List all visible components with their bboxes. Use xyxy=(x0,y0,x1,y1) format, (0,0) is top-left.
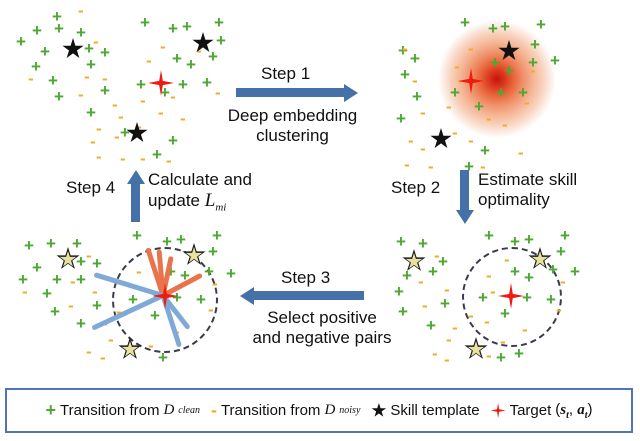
dash-icon: - xyxy=(108,331,114,348)
clustered-transitions-panel: + + + + + + + + + + + + + + + + + + + + … xyxy=(390,0,640,185)
loss-symbol: L xyxy=(205,190,216,211)
dash-icon: - xyxy=(444,351,450,368)
plus-icon: + xyxy=(202,74,212,91)
plus-icon: + xyxy=(510,233,520,250)
dash-icon: - xyxy=(166,152,172,169)
dash-icon: - xyxy=(502,116,508,133)
dash-icon: - xyxy=(504,251,510,268)
plus-icon: + xyxy=(524,231,534,248)
legend-target-tuple: (st, at) xyxy=(555,401,592,421)
plus-icon: + xyxy=(396,110,406,127)
legend-item-noisy-transition: - Transition from Dnoisy xyxy=(211,400,360,421)
plus-icon: + xyxy=(76,315,86,332)
dash-icon: - xyxy=(560,273,566,290)
plus-icon: + xyxy=(460,14,470,31)
step1-label: Step 1 xyxy=(261,64,310,84)
step1-arrow-icon xyxy=(236,88,344,97)
plus-icon: + xyxy=(514,345,524,362)
legend-noisy-text: Transition from xyxy=(221,402,320,419)
dash-icon: - xyxy=(86,343,92,360)
step4-description: Calculate and update Lmi xyxy=(148,170,252,214)
star-icon xyxy=(371,403,386,418)
dash-icon: - xyxy=(68,297,74,314)
plus-icon: + xyxy=(556,243,566,260)
step3-desc-line1: Select positive xyxy=(267,308,377,327)
skill-optimality-panel: + + + + + + + + + + + + + + + + + + + + … xyxy=(390,225,640,385)
legend-item-skill-template: Skill template xyxy=(371,402,479,419)
optimal-skill-template-star-icon xyxy=(464,337,488,361)
legend-clean-symbol: D xyxy=(163,402,174,419)
dash-icon: - xyxy=(428,158,434,175)
dash-icon: - xyxy=(170,88,176,105)
plus-icon: + xyxy=(530,36,540,53)
dash-icon: - xyxy=(420,140,426,157)
legend: + Transition from Dclean - Transition fr… xyxy=(5,388,633,433)
dash-icon: - xyxy=(452,319,458,336)
dash-icon: - xyxy=(102,70,108,87)
dash-icon: - xyxy=(518,144,524,161)
plus-icon: + xyxy=(140,14,150,31)
step2-desc-line1: Estimate skill xyxy=(478,170,577,189)
plus-icon: + xyxy=(484,227,494,244)
step1-desc-line1: Deep embedding xyxy=(228,106,357,125)
legend-noisy-symbol: D xyxy=(324,402,335,419)
step1-desc-line2: clustering xyxy=(256,126,329,145)
plus-icon: + xyxy=(496,84,506,101)
plus-icon: + xyxy=(72,235,82,252)
plus-icon: + xyxy=(478,289,488,306)
dash-icon: - xyxy=(446,331,452,348)
step2-description: Estimate skill optimality xyxy=(478,170,577,209)
plus-icon: + xyxy=(500,305,510,322)
dash-icon: - xyxy=(522,321,528,338)
dash-icon: - xyxy=(114,128,120,145)
dash-icon: - xyxy=(211,400,217,421)
plus-icon: + xyxy=(46,235,56,252)
step3-label: Step 3 xyxy=(281,268,330,288)
plus-icon: + xyxy=(120,124,130,141)
dash-icon: - xyxy=(490,283,496,300)
dash-icon: - xyxy=(140,92,146,109)
step4-desc-line2-pre: update xyxy=(148,191,205,210)
legend-action-symbol: a xyxy=(577,402,585,418)
plus-icon: + xyxy=(208,243,218,260)
plus-icon: + xyxy=(16,33,26,50)
plus-icon: + xyxy=(168,20,178,37)
plus-icon: + xyxy=(50,303,60,320)
plus-icon: + xyxy=(132,227,142,244)
plus-icon: + xyxy=(504,62,514,79)
plus-icon: + xyxy=(54,88,64,105)
plus-icon: + xyxy=(168,132,178,149)
plus-icon: + xyxy=(162,233,172,250)
dash-icon: - xyxy=(93,33,99,50)
plus-icon: + xyxy=(548,261,558,278)
plus-icon: + xyxy=(396,233,406,250)
plus-icon: + xyxy=(150,307,160,324)
plus-icon: + xyxy=(86,104,96,121)
figure-canvas: + - + + + + + + + + + - - + + + - - + - … xyxy=(0,0,640,441)
dash-icon: - xyxy=(530,62,536,79)
target-icon xyxy=(491,403,506,418)
dash-icon: - xyxy=(90,133,96,150)
dash-icon: - xyxy=(434,247,440,264)
plus-icon: + xyxy=(226,265,236,282)
dash-icon: - xyxy=(120,150,126,167)
dash-icon: - xyxy=(446,98,452,115)
plus-icon: + xyxy=(426,317,436,334)
legend-clean-text: Transition from xyxy=(60,402,159,419)
dash-icon: - xyxy=(404,156,410,173)
plus-icon: + xyxy=(428,263,438,280)
dash-icon: - xyxy=(412,72,418,89)
plus-icon: + xyxy=(524,269,534,286)
plus-icon: + xyxy=(158,349,168,366)
plus-icon: + xyxy=(536,16,546,33)
dash-icon: - xyxy=(402,40,408,57)
dash-icon: - xyxy=(92,283,98,300)
dash-icon: - xyxy=(420,104,426,121)
dash-icon: - xyxy=(486,347,492,364)
dash-icon: - xyxy=(84,68,90,85)
plus-icon: + xyxy=(45,400,56,421)
plus-icon: + xyxy=(522,289,532,306)
legend-noisy-superscript: noisy xyxy=(339,405,360,416)
step2-desc-line2: optimality xyxy=(478,190,550,209)
plus-icon: + xyxy=(24,237,34,254)
dash-icon: - xyxy=(418,273,424,290)
plus-icon: + xyxy=(474,98,484,115)
plus-icon: + xyxy=(152,146,162,163)
step1-description: Deep embedding clustering xyxy=(200,106,385,145)
dash-icon: - xyxy=(136,263,142,280)
legend-tuple-comma: , xyxy=(569,401,577,418)
dash-icon: - xyxy=(408,132,414,149)
plus-icon: + xyxy=(100,44,110,61)
dash-icon: - xyxy=(70,273,76,290)
plus-icon: + xyxy=(186,56,196,73)
dash-icon: - xyxy=(140,150,146,167)
loss-subscript: mi xyxy=(215,201,226,213)
dash-icon: - xyxy=(146,52,152,69)
legend-action-subscript: t xyxy=(585,410,588,421)
plus-icon: + xyxy=(52,271,62,288)
dash-icon: - xyxy=(86,247,92,264)
dash-icon: - xyxy=(212,275,218,292)
plus-icon: + xyxy=(40,43,50,60)
plus-icon: + xyxy=(172,50,182,67)
dash-icon: - xyxy=(180,110,186,127)
plus-icon: + xyxy=(208,48,218,65)
plus-icon: + xyxy=(550,52,560,69)
dash-icon: - xyxy=(22,283,28,300)
dash-icon: - xyxy=(524,94,530,111)
dash-icon: - xyxy=(78,2,84,19)
plus-icon: + xyxy=(76,271,86,288)
plus-icon: + xyxy=(54,20,64,37)
dash-icon: - xyxy=(100,349,106,366)
plus-icon: + xyxy=(488,20,498,37)
dash-icon: - xyxy=(444,281,450,298)
plus-icon: + xyxy=(394,283,404,300)
dash-icon: - xyxy=(468,307,474,324)
dash-icon: - xyxy=(422,297,428,314)
plus-icon: + xyxy=(418,235,428,252)
legend-skill-template-text: Skill template xyxy=(390,402,479,419)
step4-desc-line1: Calculate and xyxy=(148,170,252,189)
dash-icon: - xyxy=(78,86,84,103)
skill-template-star-icon xyxy=(430,128,452,150)
step2-arrow-icon xyxy=(460,170,469,210)
dash-icon: - xyxy=(28,70,34,87)
plus-icon: + xyxy=(176,231,186,248)
plus-icon: + xyxy=(510,263,520,280)
dash-icon: - xyxy=(96,148,102,165)
legend-item-target: Target (st, at) xyxy=(491,401,593,421)
plus-icon: + xyxy=(32,22,42,39)
dash-icon: - xyxy=(215,84,221,101)
plus-icon: + xyxy=(496,349,506,366)
dash-icon: - xyxy=(486,110,492,127)
dash-icon: - xyxy=(432,345,438,362)
plus-icon: + xyxy=(546,291,556,308)
raw-transitions-panel: + - + + + + + + + + + - - + + + - - + - … xyxy=(0,0,240,185)
plus-icon: + xyxy=(182,18,192,35)
step3-description: Select positive and negative pairs xyxy=(222,308,422,347)
plus-icon: + xyxy=(490,54,500,71)
dash-icon: - xyxy=(484,313,490,330)
dash-icon: - xyxy=(468,40,474,57)
contrastive-pairs-panel: + + + + + + + + + + + + + + + + + + + + … xyxy=(0,225,250,385)
step3-arrow-icon xyxy=(254,291,364,300)
dash-icon: - xyxy=(158,104,164,121)
step3-desc-line2: and negative pairs xyxy=(253,328,392,347)
dash-icon: - xyxy=(500,333,506,350)
dash-icon: - xyxy=(148,337,154,354)
dash-icon: - xyxy=(452,124,458,141)
plus-icon: + xyxy=(214,14,224,31)
plus-icon: + xyxy=(570,263,580,280)
dash-icon: - xyxy=(468,132,474,149)
legend-item-clean-transition: + Transition from Dclean xyxy=(45,400,200,421)
dash-icon: - xyxy=(160,38,166,55)
plus-icon: + xyxy=(410,50,420,67)
plus-icon: + xyxy=(196,291,206,308)
dash-icon: - xyxy=(112,96,118,113)
step2-label: Step 2 xyxy=(391,178,440,198)
legend-target-text: Target xyxy=(510,402,552,419)
dash-icon: - xyxy=(96,120,102,137)
plus-icon: + xyxy=(32,259,42,276)
plus-icon: + xyxy=(42,285,52,302)
plus-icon: + xyxy=(178,76,188,93)
dash-icon: - xyxy=(556,301,562,318)
step4-label: Step 4 xyxy=(66,178,115,198)
plus-icon: + xyxy=(92,255,102,272)
step4-arrow-icon xyxy=(131,184,140,222)
legend-clean-superscript: clean xyxy=(178,405,200,416)
plus-icon: + xyxy=(136,76,146,93)
plus-icon: + xyxy=(500,18,510,35)
plus-icon: + xyxy=(400,66,410,83)
dash-icon: - xyxy=(208,301,214,318)
